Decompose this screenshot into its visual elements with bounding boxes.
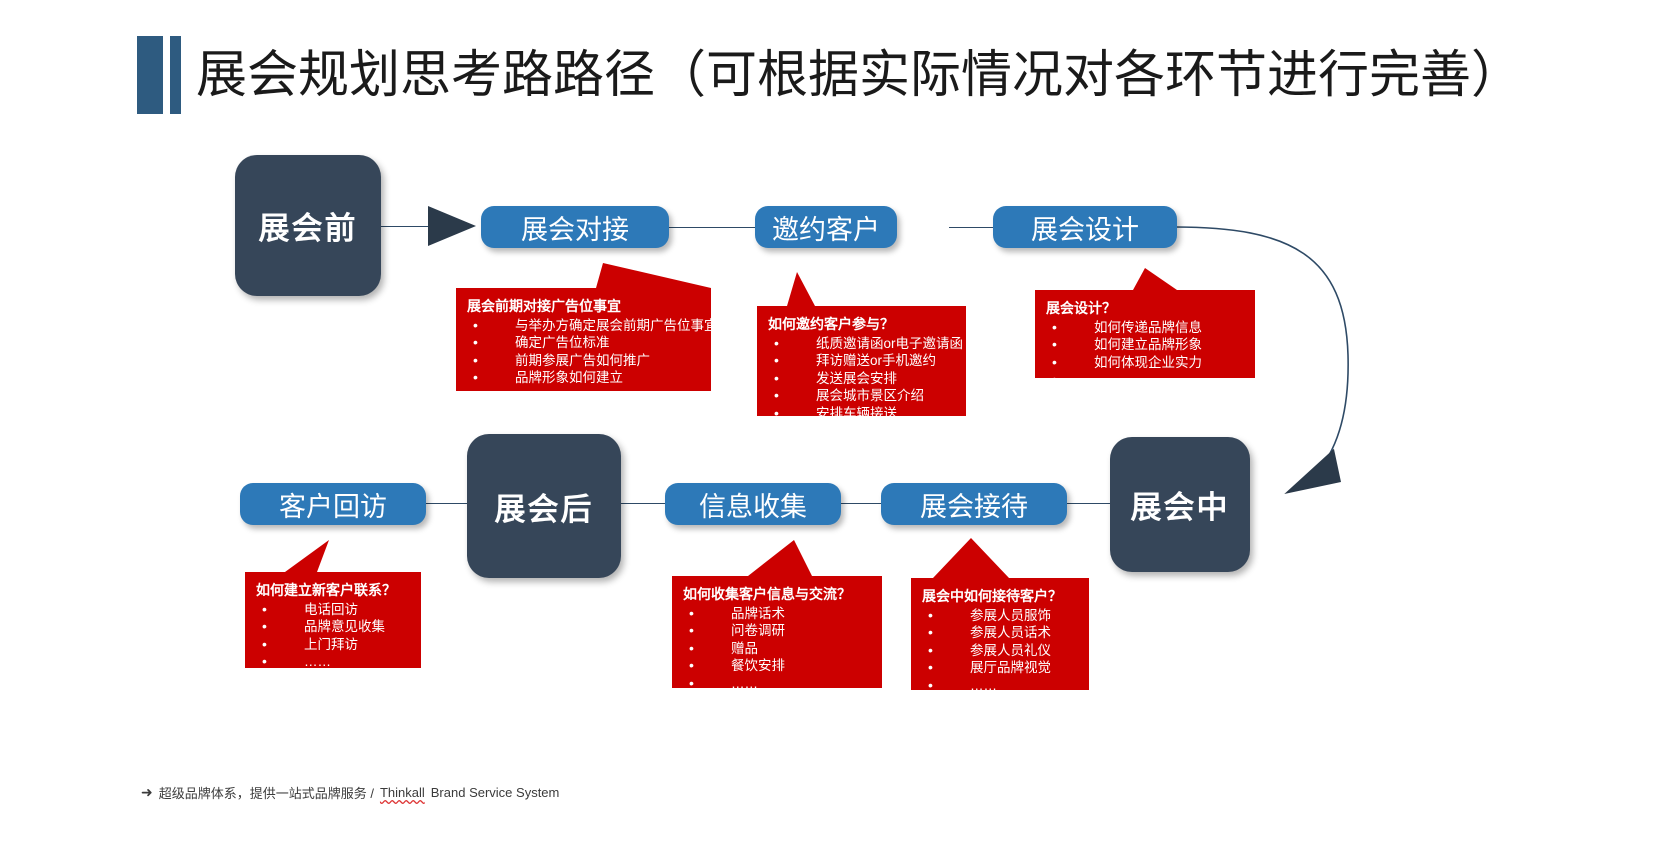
pill-collect[interactable]: 信息收集 — [665, 483, 841, 525]
pill-docking[interactable]: 展会对接 — [481, 206, 669, 248]
title-accent-bar-wide — [137, 36, 163, 114]
pill-revisit[interactable]: 客户回访 — [240, 483, 426, 525]
pill-label-reception: 展会接待 — [920, 485, 1028, 524]
callout-item: …… — [467, 387, 703, 405]
callout-body-collect: 如何收集客户信息与交流？ 品牌话术 问卷调研 赠品 餐饮安排 …… — [672, 576, 882, 688]
callout-item: …… — [1046, 371, 1247, 389]
page-title: 展会规划思考路路径（可根据实际情况对各环节进行完善） — [196, 36, 1522, 114]
callout-item: 与举办方确定展会前期广告位事宜 — [467, 317, 703, 335]
callout-item: 拜访赠送or手机邀约 — [768, 352, 958, 370]
connector-reception-to-during — [1066, 503, 1111, 504]
callout-design: 展会设计？ 如何传递品牌信息 如何建立品牌形象 如何体现企业实力 …… — [1035, 268, 1255, 378]
callout-title-docking: 展会前期对接广告位事宜 — [467, 298, 703, 316]
callout-item: 品牌形象如何建立 — [467, 369, 703, 387]
callout-item: …… — [683, 675, 874, 693]
pill-invite[interactable]: 邀约客户 — [755, 206, 897, 248]
footer-arrow-icon: ➜ — [141, 784, 153, 801]
callout-item: 问卷调研 — [683, 622, 874, 640]
callout-invite: 如何邀约客户参与？ 纸质邀请函or电子邀请函 拜访赠送or手机邀约 发送展会安排… — [757, 272, 966, 416]
callout-item: 纸质邀请函or电子邀请函 — [768, 335, 958, 353]
stage-label-during: 展会中 — [1131, 482, 1230, 527]
callout-item: …… — [256, 653, 413, 671]
callout-title-collect: 如何收集客户信息与交流？ — [683, 586, 874, 604]
callout-item: 赠品 — [683, 640, 874, 658]
footer-en-text: Brand Service System — [431, 785, 560, 800]
callout-body-design: 展会设计？ 如何传递品牌信息 如何建立品牌形象 如何体现企业实力 …… — [1035, 290, 1255, 378]
connector-collect-to-reception — [841, 503, 881, 504]
title-accent-bar-thin — [170, 36, 181, 114]
callout-item: 品牌意见收集 — [256, 618, 413, 636]
callout-item: 参展人员话术 — [922, 624, 1081, 642]
callout-body-docking: 展会前期对接广告位事宜 与举办方确定展会前期广告位事宜 确定广告位标准 前期参展… — [456, 288, 711, 391]
callout-item: 发送展会安排 — [768, 370, 958, 388]
pill-reception[interactable]: 展会接待 — [881, 483, 1067, 525]
pill-label-collect: 信息收集 — [699, 485, 807, 524]
callout-title-design: 展会设计？ — [1046, 300, 1247, 318]
pill-label-design: 展会设计 — [1031, 208, 1139, 247]
stage-label-after: 展会后 — [495, 484, 594, 529]
stage-box-during[interactable]: 展会中 — [1110, 437, 1250, 572]
callout-item: 如何建立品牌形象 — [1046, 336, 1247, 354]
callout-collect: 如何收集客户信息与交流？ 品牌话术 问卷调研 赠品 餐饮安排 …… — [672, 540, 882, 688]
callout-item: 品牌话术 — [683, 605, 874, 623]
footer: ➜ 超级品牌体系，提供一站式品牌服务 / Thinkall Brand Serv… — [141, 783, 559, 802]
callout-item: 餐饮安排 — [683, 657, 874, 675]
connector-docking-to-invite — [669, 227, 755, 228]
footer-cn-text: 超级品牌体系，提供一站式品牌服务 / — [159, 783, 374, 802]
footer-brand-name: Thinkall — [380, 785, 425, 800]
stage-label-before: 展会前 — [259, 203, 358, 248]
callout-item: 安排车辆接送 — [768, 405, 958, 423]
callout-item: 前期参展广告如何推广 — [467, 352, 703, 370]
connector-before-to-docking — [380, 226, 432, 227]
callout-title-revisit: 如何建立新客户联系？ — [256, 582, 413, 600]
callout-body-revisit: 如何建立新客户联系？ 电话回访 品牌意见收集 上门拜访 …… — [245, 572, 421, 668]
callout-item: 展会城市景区介绍 — [768, 387, 958, 405]
connector-after-to-collect — [620, 503, 665, 504]
callout-body-invite: 如何邀约客户参与？ 纸质邀请函or电子邀请函 拜访赠送or手机邀约 发送展会安排… — [757, 306, 966, 416]
callout-list-docking: 与举办方确定展会前期广告位事宜 确定广告位标准 前期参展广告如何推广 品牌形象如… — [467, 317, 703, 405]
callout-docking: 展会前期对接广告位事宜 与举办方确定展会前期广告位事宜 确定广告位标准 前期参展… — [456, 263, 711, 391]
callout-list-collect: 品牌话术 问卷调研 赠品 餐饮安排 …… — [683, 605, 874, 693]
callout-list-reception: 参展人员服饰 参展人员话术 参展人员礼仪 展厅品牌视觉 …… — [922, 607, 1081, 695]
stage-box-before[interactable]: 展会前 — [235, 155, 381, 296]
callout-item: 参展人员礼仪 — [922, 642, 1081, 660]
callout-item: 如何传递品牌信息 — [1046, 319, 1247, 337]
callout-item: 展厅品牌视觉 — [922, 659, 1081, 677]
callout-item: 确定广告位标准 — [467, 334, 703, 352]
callout-item: 上门拜访 — [256, 636, 413, 654]
callout-body-reception: 展会中如何接待客户？ 参展人员服饰 参展人员话术 参展人员礼仪 展厅品牌视觉 …… — [911, 578, 1089, 690]
pill-design[interactable]: 展会设计 — [993, 206, 1177, 248]
callout-list-revisit: 电话回访 品牌意见收集 上门拜访 …… — [256, 601, 413, 671]
arrow-before-to-docking — [428, 206, 476, 246]
slide-canvas: 展会规划思考路路径（可根据实际情况对各环节进行完善） 展会前 展会中 展会后 展… — [0, 0, 1677, 845]
callout-item: 如何体现企业实力 — [1046, 354, 1247, 372]
callout-item: 电话回访 — [256, 601, 413, 619]
stage-box-after[interactable]: 展会后 — [467, 434, 621, 578]
callout-title-reception: 展会中如何接待客户？ — [922, 588, 1081, 606]
pill-label-invite: 邀约客户 — [772, 208, 880, 247]
callout-item: 参展人员服饰 — [922, 607, 1081, 625]
callout-reception: 展会中如何接待客户？ 参展人员服饰 参展人员话术 参展人员礼仪 展厅品牌视觉 …… — [911, 538, 1089, 690]
callout-revisit: 如何建立新客户联系？ 电话回访 品牌意见收集 上门拜访 …… — [245, 540, 421, 668]
connector-revisit-to-after — [425, 503, 467, 504]
callout-list-invite: 纸质邀请函or电子邀请函 拜访赠送or手机邀约 发送展会安排 展会城市景区介绍 … — [768, 335, 958, 440]
callout-list-design: 如何传递品牌信息 如何建立品牌形象 如何体现企业实力 …… — [1046, 319, 1247, 389]
callout-item: …… — [922, 677, 1081, 695]
pill-label-revisit: 客户回访 — [279, 485, 387, 524]
connector-invite-to-design — [949, 227, 995, 228]
callout-item: …… — [768, 422, 958, 440]
pill-label-docking: 展会对接 — [521, 208, 629, 247]
callout-title-invite: 如何邀约客户参与？ — [768, 316, 958, 334]
